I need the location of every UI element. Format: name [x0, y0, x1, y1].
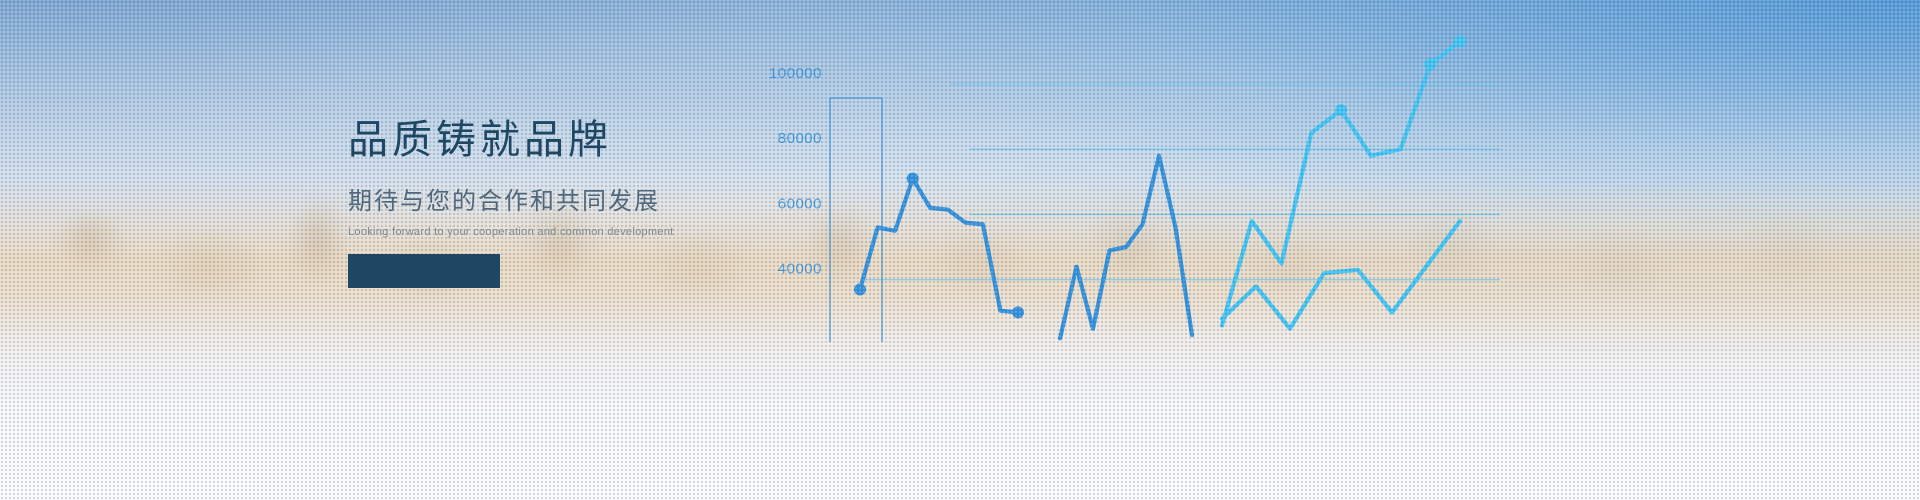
chart-axis-box [830, 98, 882, 342]
chart-marker-series-1-3 [907, 173, 919, 185]
y-tick-label-80000: 80000 [778, 130, 822, 147]
chart-line-series-1 [860, 179, 1018, 313]
line-chart: 400006000080000100000 [760, 20, 1920, 360]
banner-subtitle: 期待与您的合作和共同发展 [348, 188, 768, 217]
y-tick-label-100000: 100000 [769, 65, 822, 82]
banner-stage: 400006000080000100000 品质铸就品牌 期待与您的合作和共同发… [0, 0, 1920, 500]
banner-copy: 品质铸就品牌 期待与您的合作和共同发展 Looking forward to y… [348, 118, 768, 239]
cta-button-label [348, 254, 500, 288]
cta-button[interactable] [348, 254, 500, 288]
chart-marker-series-1-0 [854, 284, 866, 296]
chart-marker-series-1-9 [1012, 306, 1024, 318]
chart-line-series-4 [1222, 221, 1460, 329]
page-title: 品质铸就品牌 [348, 118, 768, 162]
chart-series-group [854, 36, 1466, 339]
chart-line-series-2 [1060, 156, 1192, 339]
chart-marker-series-3-4 [1335, 104, 1347, 116]
chart-y-axis-ticks: 400006000080000100000 [769, 65, 822, 278]
chart-marker-series-3-8 [1454, 36, 1466, 48]
chart-marker-series-3-7 [1424, 58, 1436, 70]
line-chart-svg: 400006000080000100000 [760, 20, 1920, 360]
banner-tagline: Looking forward to your cooperation and … [348, 225, 768, 239]
y-tick-label-60000: 60000 [778, 195, 822, 212]
y-tick-label-40000: 40000 [778, 261, 822, 278]
